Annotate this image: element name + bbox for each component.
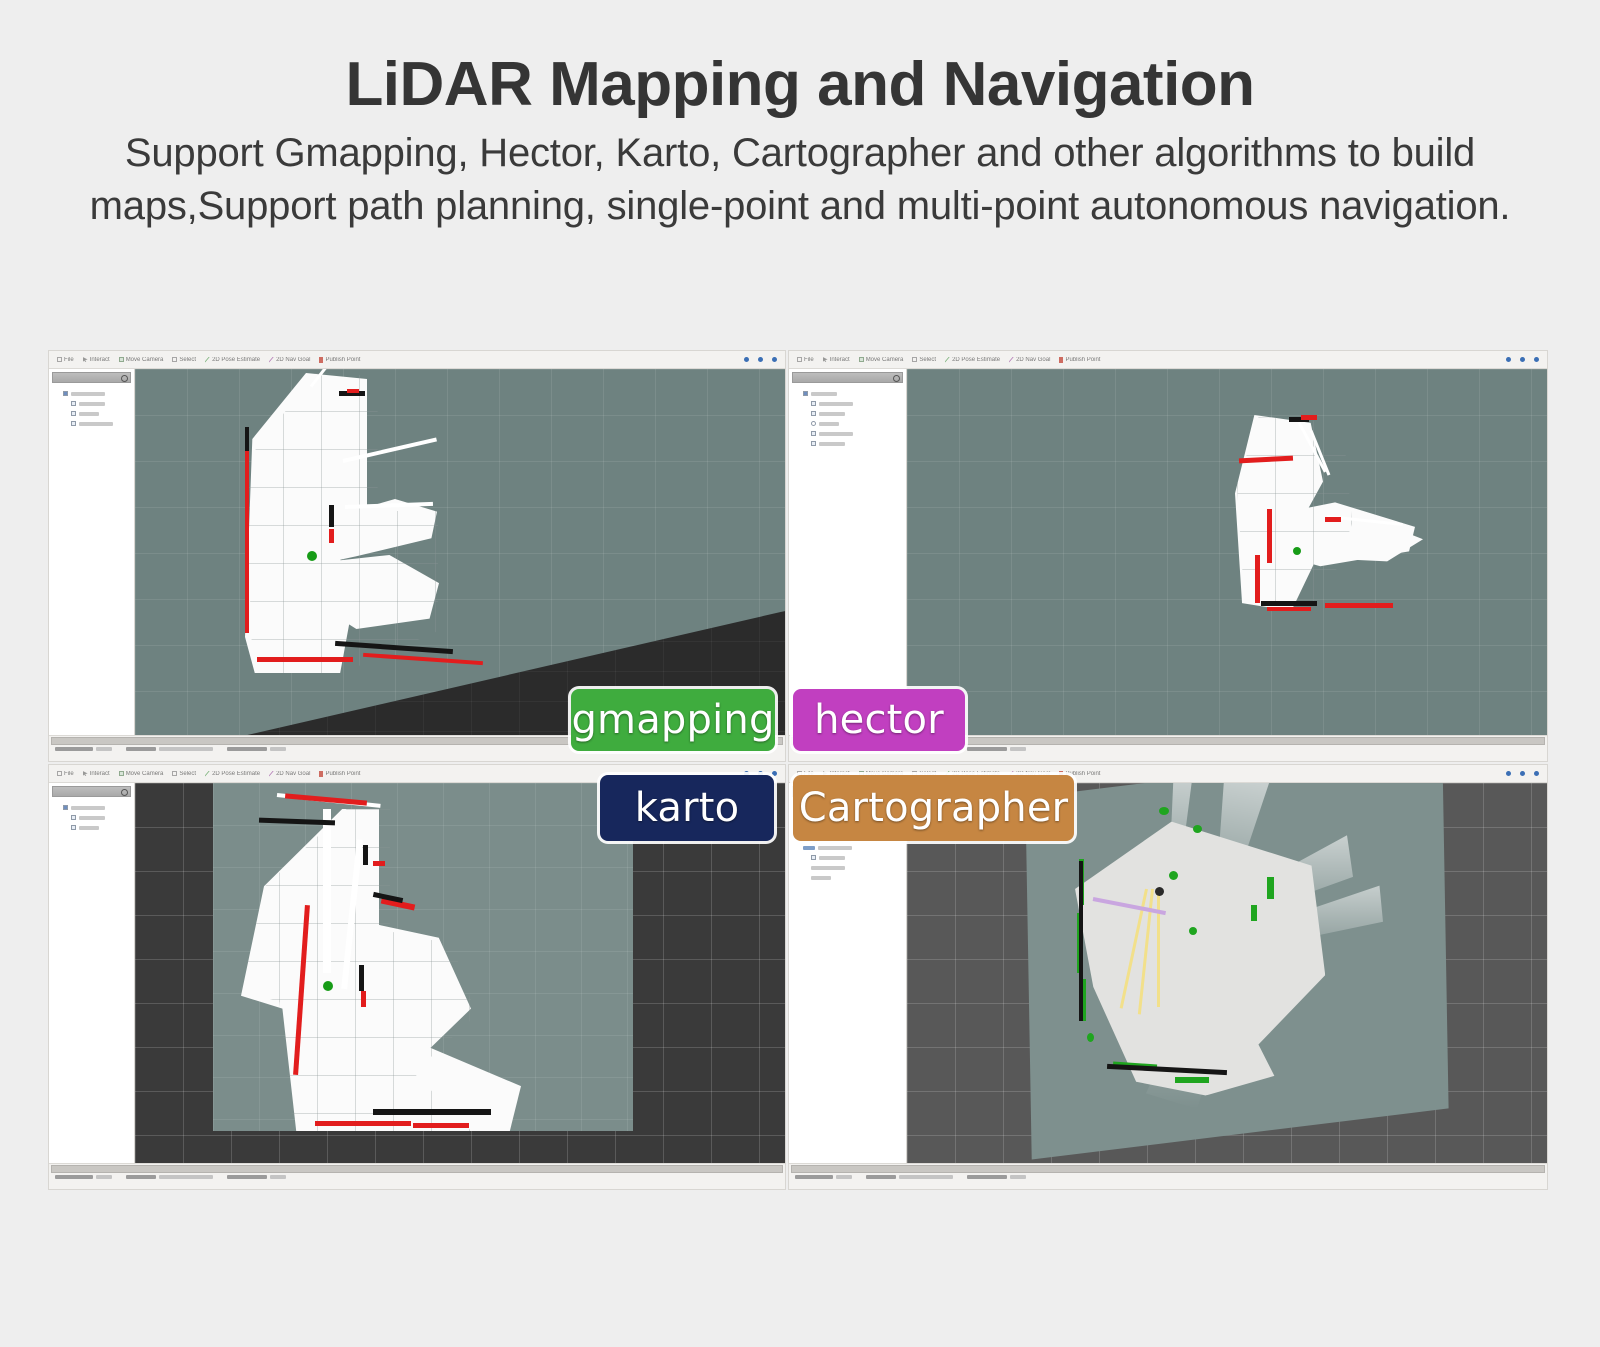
occupancy-map xyxy=(907,783,1547,1189)
toolbar-move-camera[interactable]: Move Camera xyxy=(119,771,164,777)
select-icon xyxy=(172,771,177,776)
red-pin-icon xyxy=(1059,357,1063,363)
list-item[interactable] xyxy=(54,823,130,832)
toolbar-interact-label: Interact xyxy=(90,771,110,777)
viewport-3d[interactable] xyxy=(135,783,785,1189)
toolbar-nav-goal[interactable]: 2D Nav Goal xyxy=(1009,357,1050,363)
list-item[interactable] xyxy=(794,429,902,438)
select-icon xyxy=(912,357,917,362)
toolbar-nav-goal-label: 2D Nav Goal xyxy=(276,357,310,363)
list-item[interactable] xyxy=(54,813,130,822)
horizontal-scrollbar[interactable] xyxy=(51,1165,783,1173)
camera-icon xyxy=(119,771,124,776)
toolbar-interact[interactable]: Interact xyxy=(83,357,110,363)
toolbar-publish-point[interactable]: Publish Point xyxy=(319,771,360,777)
page-subtitle: Support Gmapping, Hector, Karto, Cartogr… xyxy=(50,127,1550,233)
checkbox-icon[interactable] xyxy=(63,805,68,810)
checkbox-icon[interactable] xyxy=(71,815,76,820)
focus-icon[interactable] xyxy=(1506,357,1511,362)
purple-arrow-icon xyxy=(1009,357,1014,363)
camera-icon xyxy=(119,357,124,362)
cursor-icon xyxy=(823,357,828,362)
toolbar-file[interactable]: File xyxy=(57,771,74,777)
toolbar-pose-estimate[interactable]: 2D Pose Estimate xyxy=(205,771,260,777)
measure-icon[interactable] xyxy=(1520,357,1525,362)
occupancy-map xyxy=(907,369,1547,761)
measure-icon[interactable] xyxy=(1520,771,1525,776)
toolbar-interact[interactable]: Interact xyxy=(83,771,110,777)
occupancy-map xyxy=(135,783,785,1189)
cursor-icon xyxy=(83,357,88,362)
status-bar xyxy=(789,1163,1547,1189)
slide-root: LiDAR Mapping and Navigation Support Gma… xyxy=(0,0,1600,1347)
horizontal-scrollbar[interactable] xyxy=(791,1165,1545,1173)
displays-dock[interactable] xyxy=(789,783,907,1189)
toolbar-pose-estimate[interactable]: 2D Pose Estimate xyxy=(945,357,1000,363)
robot-marker xyxy=(1293,547,1301,555)
toolbar-publish-point[interactable]: Publish Point xyxy=(1059,357,1100,363)
zoom-icon[interactable] xyxy=(1534,357,1539,362)
green-arrow-icon xyxy=(945,357,950,363)
toolbar-move-camera[interactable]: Move Camera xyxy=(859,357,904,363)
select-icon xyxy=(172,357,177,362)
menu-icon xyxy=(797,357,802,362)
toolbar-select[interactable]: Select xyxy=(172,771,196,777)
list-item[interactable] xyxy=(794,399,902,408)
zoom-icon[interactable] xyxy=(1534,771,1539,776)
checkbox-icon[interactable] xyxy=(811,411,816,416)
toolbar-pose-estimate[interactable]: 2D Pose Estimate xyxy=(205,357,260,363)
list-item[interactable] xyxy=(794,843,902,852)
checkbox-icon[interactable] xyxy=(811,431,816,436)
toolbar-interact[interactable]: Interact xyxy=(823,357,850,363)
toolbar-publish-point-label: Publish Point xyxy=(325,771,360,777)
viewport-3d[interactable] xyxy=(907,369,1547,761)
panel-body xyxy=(789,783,1547,1189)
toolbar-nav-goal[interactable]: 2D Nav Goal xyxy=(269,357,310,363)
checkbox-icon[interactable] xyxy=(71,825,76,830)
menu-icon xyxy=(57,771,62,776)
search-input[interactable] xyxy=(52,786,131,797)
search-input[interactable] xyxy=(52,372,131,383)
status-wall-time xyxy=(866,1175,953,1179)
displays-tree[interactable] xyxy=(789,799,906,1173)
toolbar-nav-goal-label: 2D Nav Goal xyxy=(276,771,310,777)
toolbar-file-label: File xyxy=(804,357,814,363)
red-pin-icon xyxy=(319,357,323,363)
toolbar-publish-point-label: Publish Point xyxy=(325,357,360,363)
status-fields xyxy=(789,1174,1547,1180)
focus-icon[interactable] xyxy=(744,357,749,362)
red-pin-icon xyxy=(319,771,323,777)
screenshot-grid: File Interact Move Camera Select 2D Pose… xyxy=(48,350,1548,1190)
toolbar-select-label: Select xyxy=(179,357,196,363)
checkbox-icon[interactable] xyxy=(71,411,76,416)
status-bar xyxy=(49,1163,785,1189)
panel-body xyxy=(49,783,785,1189)
checkbox-icon[interactable] xyxy=(811,401,816,406)
list-item[interactable] xyxy=(794,389,902,398)
green-arrow-icon xyxy=(205,357,210,363)
status-wall-elapsed xyxy=(227,747,286,751)
displays-dock[interactable] xyxy=(49,783,135,1189)
checkbox-icon[interactable] xyxy=(811,441,816,446)
robot-marker xyxy=(307,551,317,561)
toolbar-select-label: Select xyxy=(179,771,196,777)
list-item[interactable] xyxy=(54,803,130,812)
badge-cartographer: Cartographer xyxy=(793,775,1074,841)
page-title: LiDAR Mapping and Navigation xyxy=(0,52,1600,117)
toolbar-select[interactable]: Select xyxy=(172,357,196,363)
checkbox-icon[interactable] xyxy=(63,391,68,396)
list-item[interactable] xyxy=(794,439,902,448)
status-fields xyxy=(49,1174,785,1180)
rviz-toolbar[interactable]: File Interact Move Camera Select 2D Pose… xyxy=(49,351,785,369)
purple-arrow-icon xyxy=(269,357,274,363)
toolbar-pose-estimate-label: 2D Pose Estimate xyxy=(952,357,1000,363)
displays-dock[interactable] xyxy=(49,369,135,761)
toolbar-move-camera-label: Move Camera xyxy=(866,357,904,363)
toolbar-move-camera[interactable]: Move Camera xyxy=(119,357,164,363)
list-item[interactable] xyxy=(54,399,130,408)
list-item[interactable] xyxy=(794,853,902,862)
toolbar-pose-estimate-label: 2D Pose Estimate xyxy=(212,771,260,777)
checkbox-icon[interactable] xyxy=(71,421,76,426)
displays-tree[interactable] xyxy=(49,385,134,745)
badge-karto: karto xyxy=(600,775,774,841)
toolbar-file[interactable]: File xyxy=(797,357,814,363)
robot-marker xyxy=(1155,887,1164,896)
radio-icon[interactable] xyxy=(811,421,816,426)
toolbar-interact-label: Interact xyxy=(90,357,110,363)
badge-hector: hector xyxy=(793,689,965,751)
list-item[interactable] xyxy=(794,873,902,882)
laser-ray xyxy=(1157,889,1160,1007)
status-ros-elapsed xyxy=(795,1175,852,1179)
viewport-3d[interactable] xyxy=(907,783,1547,1189)
search-input[interactable] xyxy=(792,372,903,383)
list-item[interactable] xyxy=(54,409,130,418)
toolbar-nav-goal[interactable]: 2D Nav Goal xyxy=(269,771,310,777)
displays-tree[interactable] xyxy=(49,799,134,1173)
robot-marker xyxy=(323,981,333,991)
green-arrow-icon xyxy=(205,771,210,777)
toolbar-interact-label: Interact xyxy=(830,357,850,363)
status-wall-elapsed xyxy=(967,747,1026,751)
status-wall-time xyxy=(126,1175,213,1179)
zoom-icon[interactable] xyxy=(772,771,777,776)
checkbox-icon[interactable] xyxy=(803,391,808,396)
zoom-icon[interactable] xyxy=(772,357,777,362)
toolbar-move-camera-label: Move Camera xyxy=(126,357,164,363)
toolbar-pose-estimate-label: 2D Pose Estimate xyxy=(212,357,260,363)
toolbar-file-label: File xyxy=(64,771,74,777)
checkbox-icon[interactable] xyxy=(71,401,76,406)
cursor-icon xyxy=(83,771,88,776)
status-wall-time xyxy=(126,747,213,751)
rviz-toolbar[interactable]: File Interact Move Camera Select 2D Pose… xyxy=(789,351,1547,369)
list-item[interactable] xyxy=(794,409,902,418)
list-item[interactable] xyxy=(794,419,902,428)
status-ros-elapsed xyxy=(55,747,112,751)
badge-gmapping: gmapping xyxy=(571,689,775,751)
status-ros-elapsed xyxy=(55,1175,112,1179)
status-wall-elapsed xyxy=(227,1175,286,1179)
toolbar-move-camera-label: Move Camera xyxy=(126,771,164,777)
toolbar-publish-point-label: Publish Point xyxy=(1065,357,1100,363)
toolbar-file[interactable]: File xyxy=(57,357,74,363)
toolbar-publish-point[interactable]: Publish Point xyxy=(319,357,360,363)
toolbar-file-label: File xyxy=(64,357,74,363)
toolbar-select[interactable]: Select xyxy=(912,357,936,363)
toolbar-nav-goal-label: 2D Nav Goal xyxy=(1016,357,1050,363)
status-wall-elapsed xyxy=(967,1175,1026,1179)
focus-icon[interactable] xyxy=(1506,771,1511,776)
toolbar-select-label: Select xyxy=(919,357,936,363)
checkbox-icon[interactable] xyxy=(811,855,816,860)
list-item[interactable] xyxy=(794,863,902,872)
purple-arrow-icon xyxy=(269,771,274,777)
camera-icon xyxy=(859,357,864,362)
list-item[interactable] xyxy=(54,389,130,398)
menu-icon xyxy=(57,357,62,362)
header: LiDAR Mapping and Navigation Support Gma… xyxy=(0,0,1600,233)
measure-icon[interactable] xyxy=(758,357,763,362)
list-item[interactable] xyxy=(54,419,130,428)
